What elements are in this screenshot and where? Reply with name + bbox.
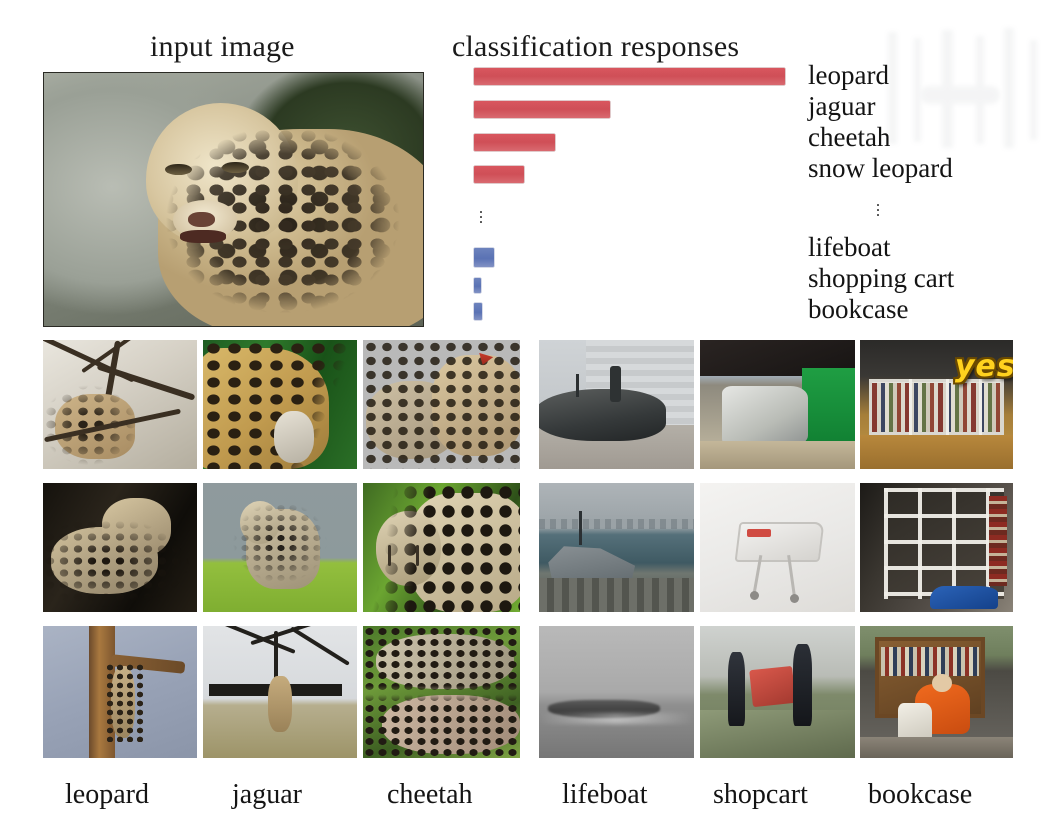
yes-overlay-text: yes [955, 349, 1013, 384]
books [881, 647, 979, 676]
thumbnail-shopcart-r2 [700, 483, 855, 612]
thumbnail-bookcase-r1: yes [860, 340, 1013, 469]
caption-leopard: leopard [65, 779, 149, 811]
thumbnail-leopard-r1 [43, 340, 197, 469]
thumbnail-cheetah-r1 [363, 340, 520, 469]
thumbnail-lifeboat-r3 [539, 626, 694, 758]
class-label-ellipsis: ... [868, 198, 888, 213]
person [728, 652, 745, 726]
shelf-divider [979, 379, 982, 436]
bar-cheetah [474, 134, 555, 151]
ground [700, 441, 855, 469]
class-label-jaguar: jaguar [808, 91, 875, 122]
tear-mark [416, 545, 419, 566]
thumbnail-lifeboat-r2 [539, 483, 694, 612]
shelf-divider [946, 379, 949, 436]
thumbnail-shopcart-r1 [700, 340, 855, 469]
cart-wheel [750, 591, 759, 600]
caption-lifeboat: lifeboat [562, 779, 648, 811]
jaguar-spots [203, 483, 357, 612]
thumbnail-cheetah-r2 [363, 483, 520, 612]
floor [860, 737, 1013, 758]
conning-tower [610, 366, 621, 402]
shopping-cart [749, 666, 796, 707]
cheetah-spots [363, 483, 520, 612]
books [989, 496, 1007, 586]
thumbnail-bookcase-r2 [860, 483, 1013, 612]
person-head [932, 674, 952, 692]
leopard-nose [188, 212, 215, 227]
class-label-shopping-cart: shopping cart [808, 263, 954, 294]
thumbnail-jaguar-r1 [203, 340, 357, 469]
bar-bookcase [474, 303, 482, 320]
tear-mark [388, 545, 391, 566]
slide-root: input image classification responses ...… [0, 0, 1050, 837]
thumb-bg [539, 626, 694, 758]
shelving-frame [884, 488, 1003, 599]
cart-basket [735, 522, 825, 562]
caption-cheetah: cheetah [387, 779, 473, 811]
leopard-mouth [180, 230, 225, 243]
big-cat-figure [268, 676, 293, 731]
thumbnail-jaguar-r2 [203, 483, 357, 612]
bar-jaguar [474, 101, 610, 118]
shelf-divider [909, 379, 912, 436]
bar-shopping-cart [474, 278, 481, 293]
skyline [539, 519, 694, 529]
leopard-spots [43, 340, 197, 469]
wrapped-cart [722, 386, 809, 445]
thumbnail-leopard-r3 [43, 626, 197, 758]
classification-responses-title: classification responses [452, 30, 739, 64]
dock [539, 578, 694, 612]
thumbnail-bookcase-r3 [860, 626, 1013, 758]
caption-bookcase: bookcase [868, 779, 972, 811]
mast [579, 511, 582, 545]
thumbnail-cheetah-r3 [363, 626, 520, 758]
background-ghost-artifact [880, 28, 1050, 158]
leopard-spots [44, 73, 423, 326]
jaguar-snout [274, 411, 314, 463]
water-wake [539, 713, 694, 724]
thumbnail-jaguar-r3 [203, 626, 357, 758]
leopard-right-eye [222, 162, 249, 173]
bar-ellipsis: ... [474, 205, 488, 220]
thumbnail-leopard-r2 [43, 483, 197, 612]
thumbnail-shopcart-r3 [700, 626, 855, 758]
mast [576, 374, 579, 397]
caption-shopcart: shopcart [713, 779, 808, 811]
bar-snow-leopard [474, 166, 524, 183]
blue-chair [930, 586, 997, 609]
cart-wheel [790, 594, 799, 603]
cart-red-detail [747, 529, 772, 537]
input-image-photo [43, 72, 424, 327]
caption-jaguar: jaguar [232, 779, 302, 811]
floor [860, 435, 1013, 469]
bar-lifeboat [474, 248, 494, 267]
cheetah-spots [363, 626, 520, 758]
person [793, 644, 812, 726]
class-label-bookcase: bookcase [808, 294, 908, 325]
ground [700, 710, 855, 758]
boat-hull [539, 389, 666, 441]
leopard-spots [105, 663, 145, 742]
class-label-leopard: leopard [808, 60, 889, 91]
cheetah-spots [363, 340, 520, 469]
class-label-snow-leopard: snow leopard [808, 153, 953, 184]
class-label-lifeboat: lifeboat [808, 232, 890, 263]
thumbnail-lifeboat-r1 [539, 340, 694, 469]
bar-leopard [474, 68, 785, 85]
class-label-cheetah: cheetah [808, 122, 890, 153]
leopard-spots [43, 483, 197, 612]
input-image-title: input image [150, 30, 295, 64]
